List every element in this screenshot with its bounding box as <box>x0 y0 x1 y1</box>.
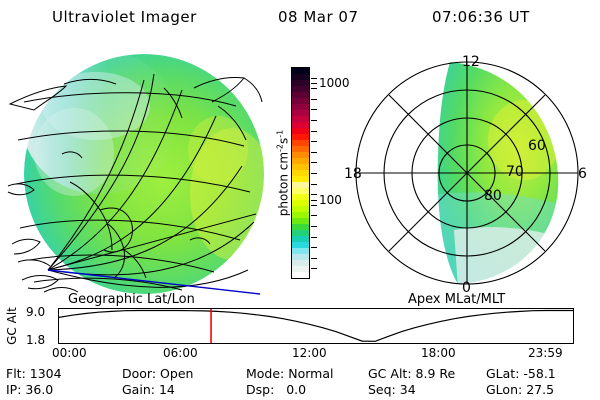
colorbar-minor-tick <box>311 247 317 248</box>
colorbar-minor-tick <box>311 141 317 142</box>
orbit-altitude-panel[interactable]: GC Alt 9.0 1.8 <box>0 300 600 344</box>
status-glon: GLon: 27.5 <box>486 382 554 397</box>
orbit-time-tick: 23:59 <box>528 346 563 360</box>
status-gain: Gain: 14 <box>122 382 175 397</box>
colorbar-minor-tick <box>311 226 317 227</box>
mlat-label-70: 70 <box>506 164 524 180</box>
mlat-label-60: 60 <box>528 138 546 154</box>
apex-mlat-mlt-panel[interactable]: 12 18 6 0 60 70 80 <box>338 44 596 296</box>
status-door: Door: Open <box>122 366 193 381</box>
mlt-label-12: 12 <box>462 54 480 70</box>
colorbar-minor-tick <box>311 152 317 153</box>
status-flt: Flt: 1304 <box>6 366 62 381</box>
observation-date: 08 Mar 07 <box>278 8 359 26</box>
colorbar-major-tick <box>311 83 317 85</box>
colorbar-minor-tick <box>311 237 317 238</box>
colorbar-minor-tick <box>311 88 317 89</box>
colorbar-gradient <box>291 67 310 279</box>
orbit-time-tick: 06:00 <box>163 346 198 360</box>
orbit-time-tick: 12:00 <box>292 346 327 360</box>
colorbar-minor-tick <box>311 268 317 269</box>
status-gcalt: GC Alt: 8.9 Re <box>368 366 455 381</box>
colorbar-minor-tick <box>311 120 317 121</box>
colorbar-minor-tick <box>311 173 317 174</box>
colorbar-minor-tick <box>311 194 317 195</box>
colorbar-minor-tick <box>311 184 317 185</box>
status-glat: GLat: -58.1 <box>486 366 556 381</box>
colorbar-minor-tick <box>311 99 317 100</box>
colorbar-minor-tick <box>311 205 317 206</box>
colorbar-major-tick <box>311 200 317 202</box>
status-mode: Mode: Normal <box>246 366 334 381</box>
colorbar-axis-label: photon cm-2s-1 <box>276 130 291 217</box>
colorbar-minor-tick <box>311 131 317 132</box>
geographic-image-panel[interactable] <box>4 44 266 296</box>
status-seq: Seq: 34 <box>368 382 416 397</box>
colorbar-minor-tick <box>311 258 317 259</box>
header-bar: Ultraviolet Imager 08 Mar 07 07:06:36 UT <box>0 8 600 32</box>
orbit-time-tick: 18:00 <box>421 346 456 360</box>
colorbar-minor-tick <box>311 215 317 216</box>
colorbar-minor-tick <box>311 109 317 110</box>
colorbar-minor-tick <box>311 78 317 79</box>
orbit-time-tick: 00:00 <box>52 346 87 360</box>
status-ip: IP: 36.0 <box>6 382 53 397</box>
orbit-y-axis-label: GC Alt <box>5 307 19 345</box>
observation-time: 07:06:36 UT <box>432 8 530 26</box>
instrument-title: Ultraviolet Imager <box>52 8 197 26</box>
polar-grid <box>356 62 578 284</box>
mlt-label-6: 6 <box>578 166 587 182</box>
orbit-y-tick-top: 9.0 <box>26 305 45 319</box>
mlt-label-18: 18 <box>344 166 362 182</box>
colorbar-minor-tick <box>311 162 317 163</box>
orbit-altitude-curve <box>59 311 573 342</box>
status-dsp: Dsp: 0.0 <box>246 382 306 397</box>
orbit-y-tick-bottom: 1.8 <box>26 333 45 347</box>
orbit-plot-box <box>58 308 574 344</box>
mlat-label-80: 80 <box>484 188 502 204</box>
